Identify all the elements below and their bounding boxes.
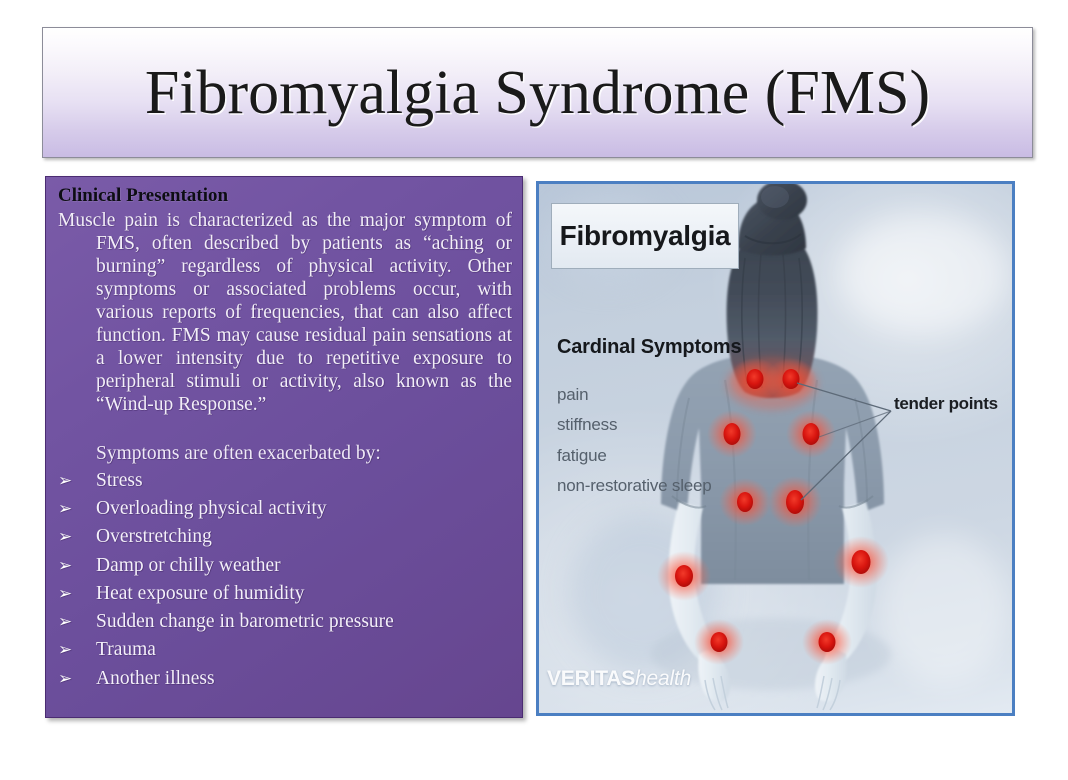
list-item-label: Heat exposure of humidity (96, 580, 512, 608)
list-item: ➢ Another illness (58, 665, 512, 693)
list-item: ➢ Heat exposure of humidity (58, 580, 512, 608)
arrow-bullet-icon: ➢ (58, 469, 96, 494)
exacerbating-factors-list: ➢ Stress ➢ Overloading physical activity… (58, 467, 512, 693)
list-item: ➢ Stress (58, 467, 512, 495)
cardinal-symptom-item: stiffness (557, 410, 807, 440)
list-item-label: Sudden change in barometric pressure (96, 608, 512, 636)
list-item-label: Damp or chilly weather (96, 552, 512, 580)
symptoms-lead-in: Symptoms are often exacerbated by: (58, 442, 512, 465)
arrow-bullet-icon: ➢ (58, 638, 96, 663)
background-blotch (879, 534, 1009, 684)
arrow-bullet-icon: ➢ (58, 525, 96, 550)
slide-title-banner: Fibromyalgia Syndrome (FMS) (42, 27, 1033, 158)
tender-points-callout-label: tender points (894, 394, 998, 414)
clinical-presentation-paragraph: Muscle pain is characterized as the majo… (58, 209, 512, 416)
watermark-suffix: health (635, 667, 691, 690)
list-item-label: Another illness (96, 665, 512, 693)
arrow-bullet-icon: ➢ (58, 497, 96, 522)
background-blotch (569, 514, 719, 674)
cardinal-symptom-item: non-restorative sleep (557, 471, 807, 501)
clinical-presentation-box: Clinical Presentation Muscle pain is cha… (45, 176, 523, 718)
arrow-bullet-icon: ➢ (58, 582, 96, 607)
list-item: ➢ Overloading physical activity (58, 495, 512, 523)
cardinal-symptom-item: fatigue (557, 441, 807, 471)
watermark-brand: VERITAS (547, 667, 635, 690)
veritas-health-watermark: VERITAShealth (547, 667, 691, 691)
list-item: ➢ Overstretching (58, 523, 512, 551)
clinical-presentation-heading: Clinical Presentation (58, 185, 512, 207)
arrow-bullet-icon: ➢ (58, 554, 96, 579)
arrow-bullet-icon: ➢ (58, 610, 96, 635)
arrow-bullet-icon: ➢ (58, 667, 96, 692)
list-item: ➢ Damp or chilly weather (58, 552, 512, 580)
list-item: ➢ Trauma (58, 636, 512, 664)
fibromyalgia-label-text: Fibromyalgia (560, 220, 731, 252)
list-item: ➢ Sudden change in barometric pressure (58, 608, 512, 636)
fibromyalgia-illustration-panel: Fibromyalgia Cardinal Symptoms pain stif… (536, 181, 1015, 716)
list-item-label: Trauma (96, 636, 512, 664)
page-title: Fibromyalgia Syndrome (FMS) (145, 62, 930, 124)
cardinal-symptom-item: pain (557, 380, 807, 410)
list-item-label: Overloading physical activity (96, 495, 512, 523)
list-item-label: Stress (96, 467, 512, 495)
fibromyalgia-label-box: Fibromyalgia (551, 203, 739, 269)
cardinal-symptoms-list: pain stiffness fatigue non-restorative s… (557, 380, 807, 501)
background-blotch (839, 214, 1009, 334)
cardinal-symptoms-heading: Cardinal Symptoms (557, 336, 741, 359)
list-item-label: Overstretching (96, 523, 512, 551)
